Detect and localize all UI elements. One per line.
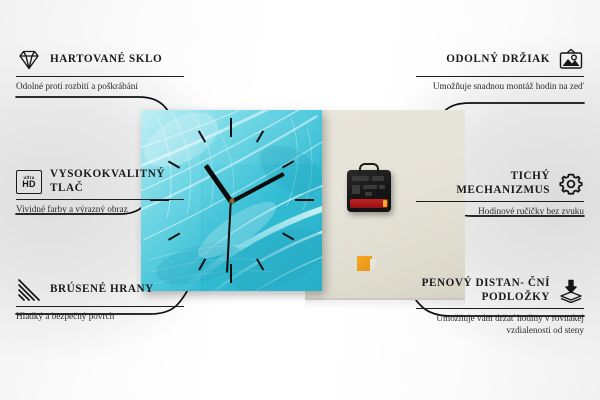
feature-title: ODOLNÝ DRŽIAK (446, 53, 550, 67)
feature-desc: Odolné proti rozbití a poškrábání (16, 81, 184, 93)
mechanism-hanger (359, 163, 379, 174)
divider (416, 76, 584, 77)
clock-hands-hub (229, 198, 234, 203)
ultra-hd-icon: ultraHD (16, 170, 42, 194)
feature-durable-hanger: ODOLNÝ DRŽIAK Umožňuje snadnou montáž ho… (416, 48, 584, 93)
feature-silent-mechanism: TICHÝ MECHANIZMUS Hodinové ručičky bez z… (416, 170, 584, 218)
feature-title: PENOVÝ DISTAN- ČNÍ PODLOŽKY (416, 277, 550, 304)
gear-icon (558, 172, 584, 196)
battery (350, 199, 388, 208)
hour-tick (295, 199, 314, 201)
foam-spacer-pad (357, 256, 372, 271)
diamond-icon (16, 48, 42, 72)
feature-title: VYSOKOKVALITNÝ TLAČ (50, 168, 184, 195)
feature-high-quality-print: ultraHD VYSOKOKVALITNÝ TLAČ Vividné farb… (16, 168, 184, 216)
feature-title: TICHÝ MECHANIZMUS (416, 170, 550, 197)
divider (16, 306, 184, 307)
hour-tick (230, 118, 232, 137)
picture-hanger-icon (558, 48, 584, 72)
hour-tick (230, 264, 232, 283)
divider (16, 76, 184, 77)
foam-spacer-icon (558, 279, 584, 303)
divider (416, 308, 584, 309)
feature-title: BRÚSENÉ HRANY (50, 283, 154, 297)
feature-foam-spacers: PENOVÝ DISTAN- ČNÍ PODLOŽKY Umožňuje vám… (416, 277, 584, 336)
divider (16, 199, 184, 200)
divider (416, 201, 584, 202)
feature-desc: Hodinové ručičky bez zvuku (416, 206, 584, 218)
infographic-canvas: HARTOVANÉ SKLO Odolné proti rozbití a po… (0, 0, 600, 400)
beveled-edge-icon (16, 278, 42, 302)
feature-desc: Umožňuje snadnou montáž hodin na zeď (416, 81, 584, 93)
feature-desc: Hladký a bezpečný povrch (16, 311, 184, 323)
feature-title: HARTOVANÉ SKLO (50, 53, 162, 67)
feature-tempered-glass: HARTOVANÉ SKLO Odolné proti rozbití a po… (16, 48, 184, 93)
feature-desc: Vividné farby a výrazný obraz (16, 204, 184, 216)
feature-desc: Umožňuje vám držať hodiny v rovnakej vzd… (416, 313, 584, 336)
feature-polished-edges: BRÚSENÉ HRANY Hladký a bezpečný povrch (16, 278, 184, 323)
clock-mechanism (347, 170, 391, 212)
